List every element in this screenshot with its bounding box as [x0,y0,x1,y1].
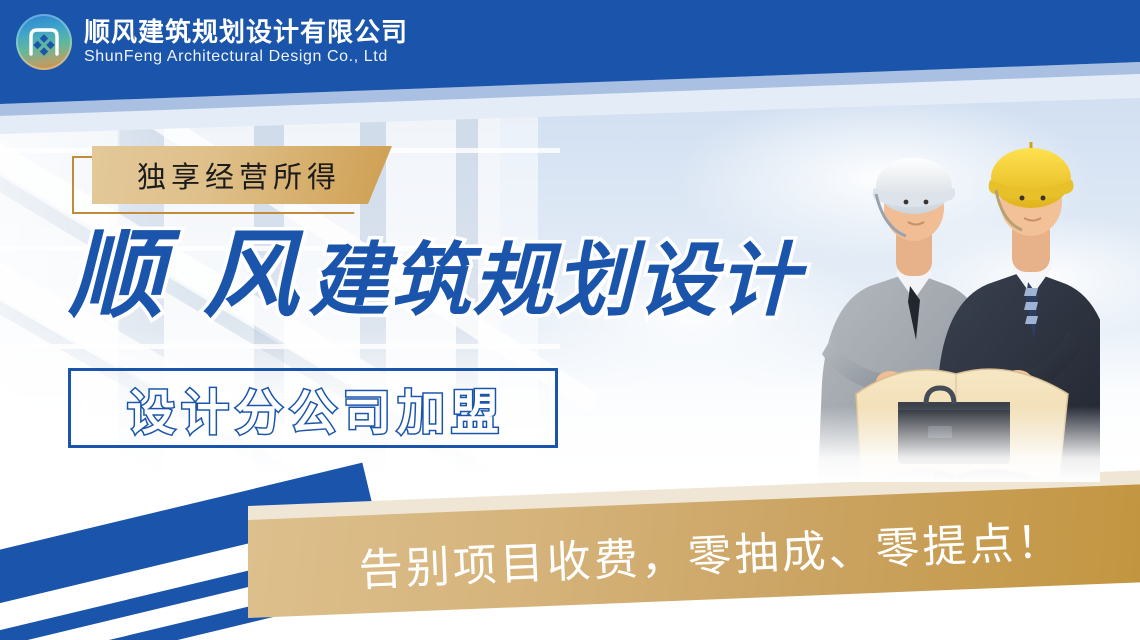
brand-text: 顺风建筑规划设计有限公司 ShunFeng Architectural Desi… [84,19,408,65]
hero-subtitle-label: 设计分公司加盟 [121,373,505,443]
hero-tag-fill: 独享经营所得 [92,146,392,204]
headline-secondary: 建筑规划设计 [309,241,801,321]
brand-name-en: ShunFeng Architectural Design Co., Ltd [84,49,408,65]
shunfeng-arch-logo-icon [16,14,72,70]
ribbon-label: 告别项目收费，零抽成、零提点！ [357,506,1064,599]
brand-name-cn: 顺风建筑规划设计有限公司 [84,19,408,45]
promo-banner: 告别项目收费，零抽成、零提点！ 顺风建筑规划设计有限公司 ShunFeng Ar… [0,0,1140,640]
people-photo [800,82,1100,482]
promo-ribbon: 告别项目收费，零抽成、零提点！ [248,470,1140,640]
hero-subtitle-box: 设计分公司加盟 [68,368,558,448]
hero-headline: 顺 风 建筑规划设计 [68,228,801,324]
hero-tag-label: 独享经营所得 [137,154,347,196]
headline-primary: 顺 风 [68,228,305,324]
brand-logo[interactable]: 顺风建筑规划设计有限公司 ShunFeng Architectural Desi… [16,14,408,70]
hero-tag: 独享经营所得 [72,146,392,218]
